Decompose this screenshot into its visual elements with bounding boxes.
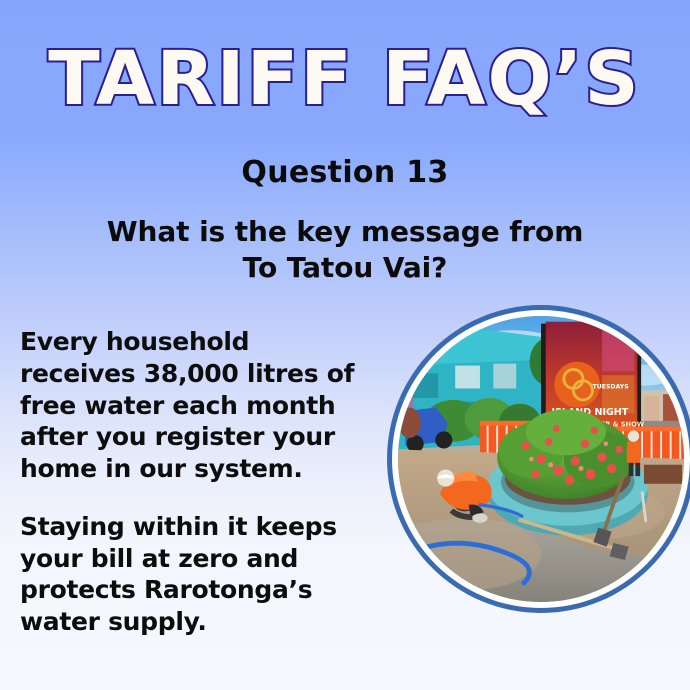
worker-figure-2	[627, 430, 640, 476]
answer-block: Every household receives 38,000 litres o…	[20, 326, 372, 638]
answer-paragraph-2: Staying within it keeps your bill at zer…	[20, 511, 372, 638]
question-number-label: Question 13	[0, 155, 690, 190]
answer-paragraph-1: Every household receives 38,000 litres o…	[20, 326, 372, 485]
question-line-1: What is the key message from	[55, 214, 635, 250]
roadworks-photo-illustration: TUESDAYS ISLAND NIGHT BUFFET DINNER & SH…	[398, 316, 684, 602]
poster-canvas: TARIFF FAQ’S Question 13 What is the key…	[0, 0, 690, 690]
svg-text:TUESDAYS: TUESDAYS	[592, 383, 628, 390]
question-text: What is the key message from To Tatou Va…	[55, 214, 635, 286]
question-line-2: To Tatou Vai?	[55, 250, 635, 286]
title-container: TARIFF FAQ’S	[0, 42, 690, 116]
roadworks-photo: TUESDAYS ISLAND NIGHT BUFFET DINNER & SH…	[398, 316, 684, 602]
page-title: TARIFF FAQ’S	[49, 42, 642, 116]
photo-circle-frame: TUESDAYS ISLAND NIGHT BUFFET DINNER & SH…	[392, 310, 690, 608]
